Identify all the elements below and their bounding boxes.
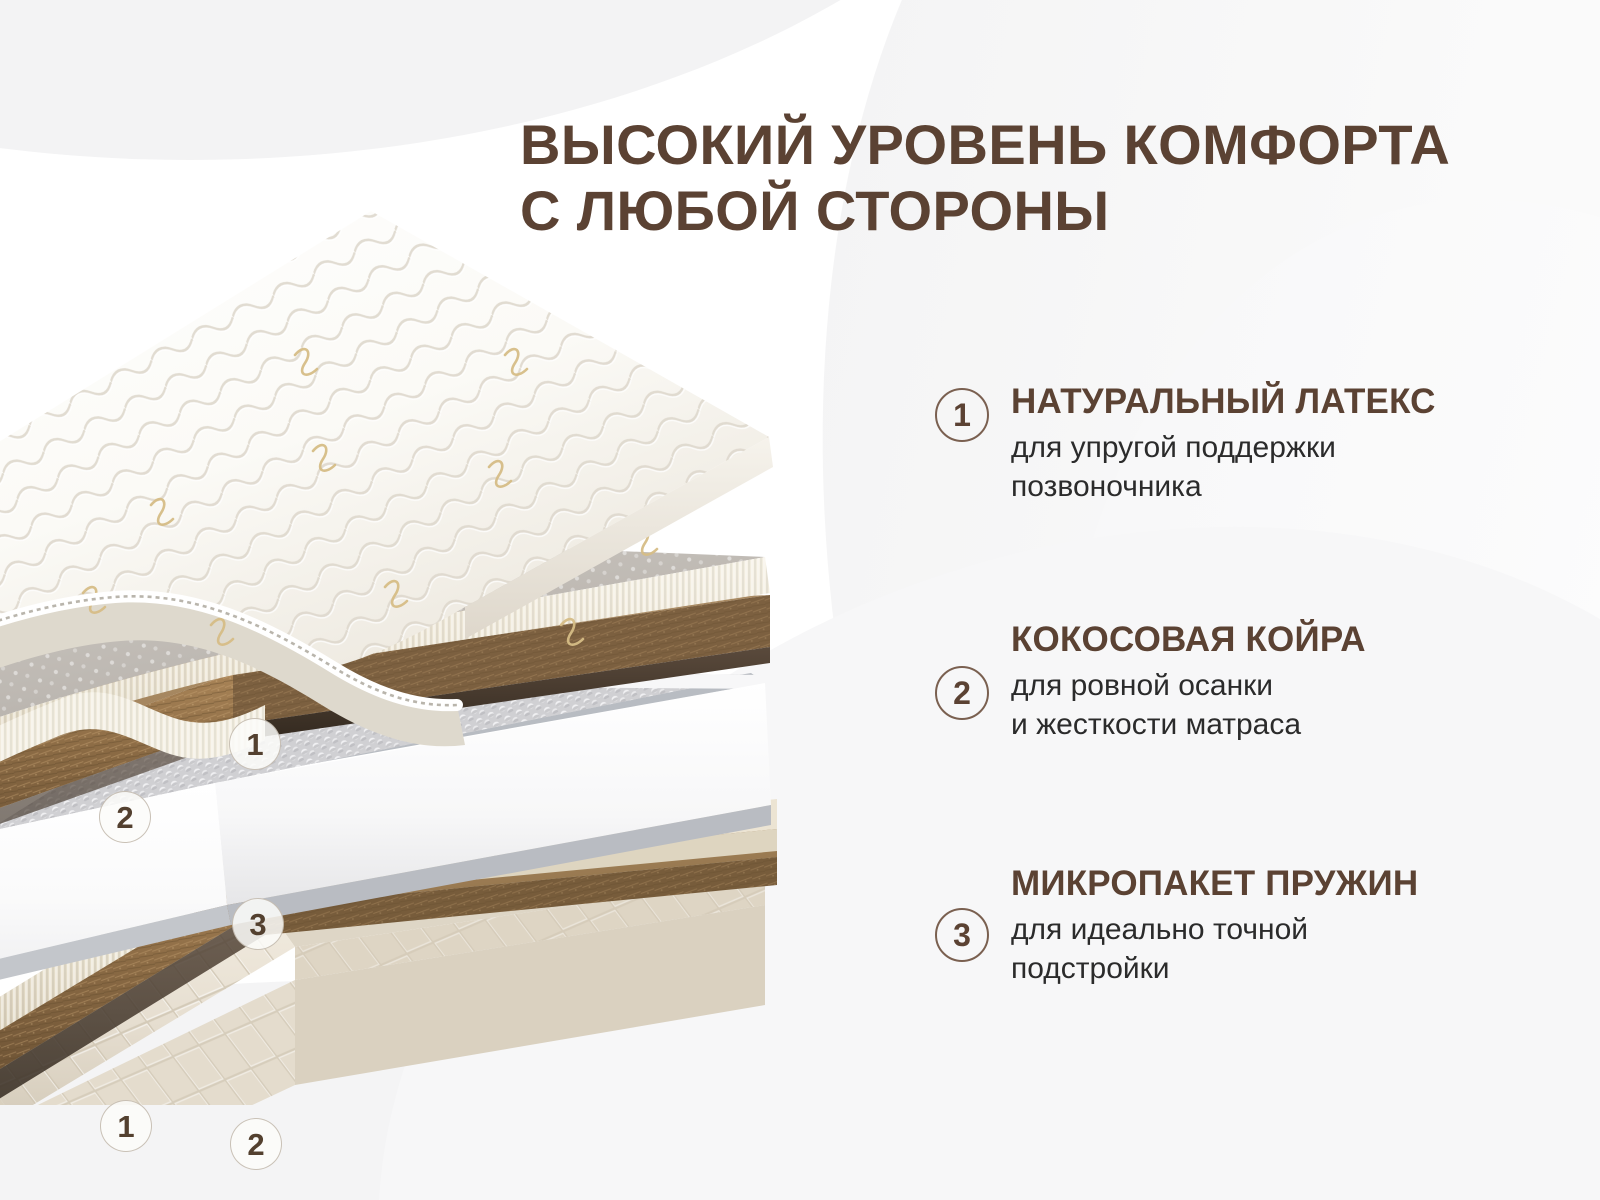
legend-item-springs: 3 МИКРОПАКЕТ ПРУЖИН для идеально точной … bbox=[935, 864, 1418, 988]
illustration-marker-3-spring: 3 bbox=[232, 898, 284, 950]
title-line-2: С ЛЮБОЙ СТОРОНЫ bbox=[520, 178, 1520, 244]
legend-badge-3: 3 bbox=[935, 908, 989, 962]
legend-text-2: КОКОСОВАЯ КОЙРА для ровной осанки и жест… bbox=[1011, 620, 1366, 744]
mattress-cutaway-illustration: 1 2 3 1 2 bbox=[0, 205, 845, 1105]
legend-subtitle-3: для идеально точной подстройки bbox=[1011, 910, 1418, 988]
legend-item-coir: 2 КОКОСОВАЯ КОЙРА для ровной осанки и же… bbox=[935, 620, 1366, 744]
illustration-marker-2-top: 2 bbox=[99, 791, 151, 843]
illustration-marker-2-bottom: 2 bbox=[230, 1118, 282, 1170]
illustration-marker-1-top: 1 bbox=[229, 718, 281, 770]
legend-badge-1: 1 bbox=[935, 388, 989, 442]
illustration-marker-1-bottom: 1 bbox=[100, 1100, 152, 1152]
legend-text-1: НАТУРАЛЬНЫЙ ЛАТЕКС для упругой поддержки… bbox=[1011, 382, 1436, 506]
mattress-svg bbox=[0, 205, 845, 1105]
title-line-1: ВЫСОКИЙ УРОВЕНЬ КОМФОРТА bbox=[520, 112, 1520, 178]
legend-subtitle-1: для упругой поддержки позвоночника bbox=[1011, 428, 1436, 506]
legend-badge-2: 2 bbox=[935, 666, 989, 720]
legend-title-2: КОКОСОВАЯ КОЙРА bbox=[1011, 620, 1366, 659]
legend-subtitle-2: для ровной осанки и жесткости матраса bbox=[1011, 666, 1366, 744]
page-title: ВЫСОКИЙ УРОВЕНЬ КОМФОРТА С ЛЮБОЙ СТОРОНЫ bbox=[520, 112, 1520, 243]
legend-text-3: МИКРОПАКЕТ ПРУЖИН для идеально точной по… bbox=[1011, 864, 1418, 988]
legend-title-1: НАТУРАЛЬНЫЙ ЛАТЕКС bbox=[1011, 382, 1436, 421]
legend-item-latex: 1 НАТУРАЛЬНЫЙ ЛАТЕКС для упругой поддерж… bbox=[935, 382, 1436, 506]
legend-title-3: МИКРОПАКЕТ ПРУЖИН bbox=[1011, 864, 1418, 903]
